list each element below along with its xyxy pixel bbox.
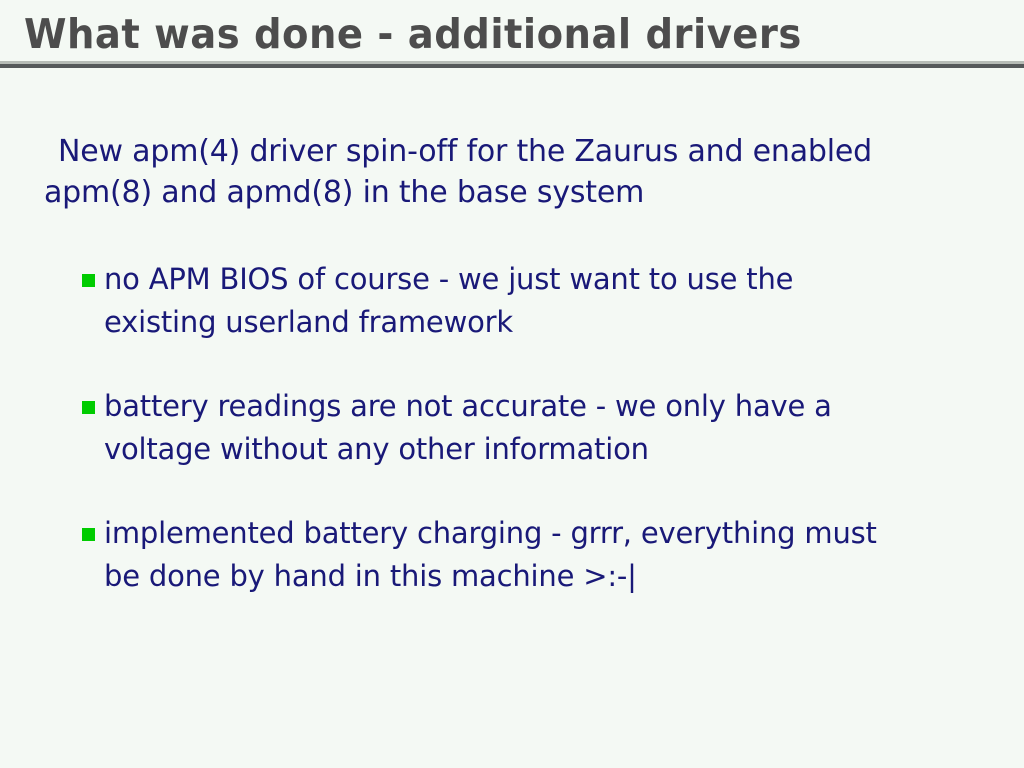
lead-paragraph: New apm(4) driver spin-off for the Zauru… xyxy=(44,131,974,213)
list-item: battery readings are not accurate - we o… xyxy=(82,385,982,471)
list-item: no APM BIOS of course - we just want to … xyxy=(82,258,982,344)
square-bullet-icon xyxy=(82,274,95,287)
list-item: implemented battery charging - grrr, eve… xyxy=(82,512,982,598)
list-item-label: battery readings are not accurate - we o… xyxy=(104,385,904,471)
slide-body: New apm(4) driver spin-off for the Zauru… xyxy=(0,68,1024,768)
square-bullet-icon xyxy=(82,528,95,541)
bullet-list: no APM BIOS of course - we just want to … xyxy=(82,258,982,598)
list-item-label: no APM BIOS of course - we just want to … xyxy=(104,258,904,344)
square-bullet-icon xyxy=(82,401,95,414)
page-title: What was done - additional drivers xyxy=(24,9,802,59)
presentation-slide: What was done - additional drivers New a… xyxy=(0,0,1024,768)
title-divider xyxy=(0,61,1024,68)
list-item-label: implemented battery charging - grrr, eve… xyxy=(104,512,904,598)
slide-title-block: What was done - additional drivers xyxy=(0,0,1024,68)
